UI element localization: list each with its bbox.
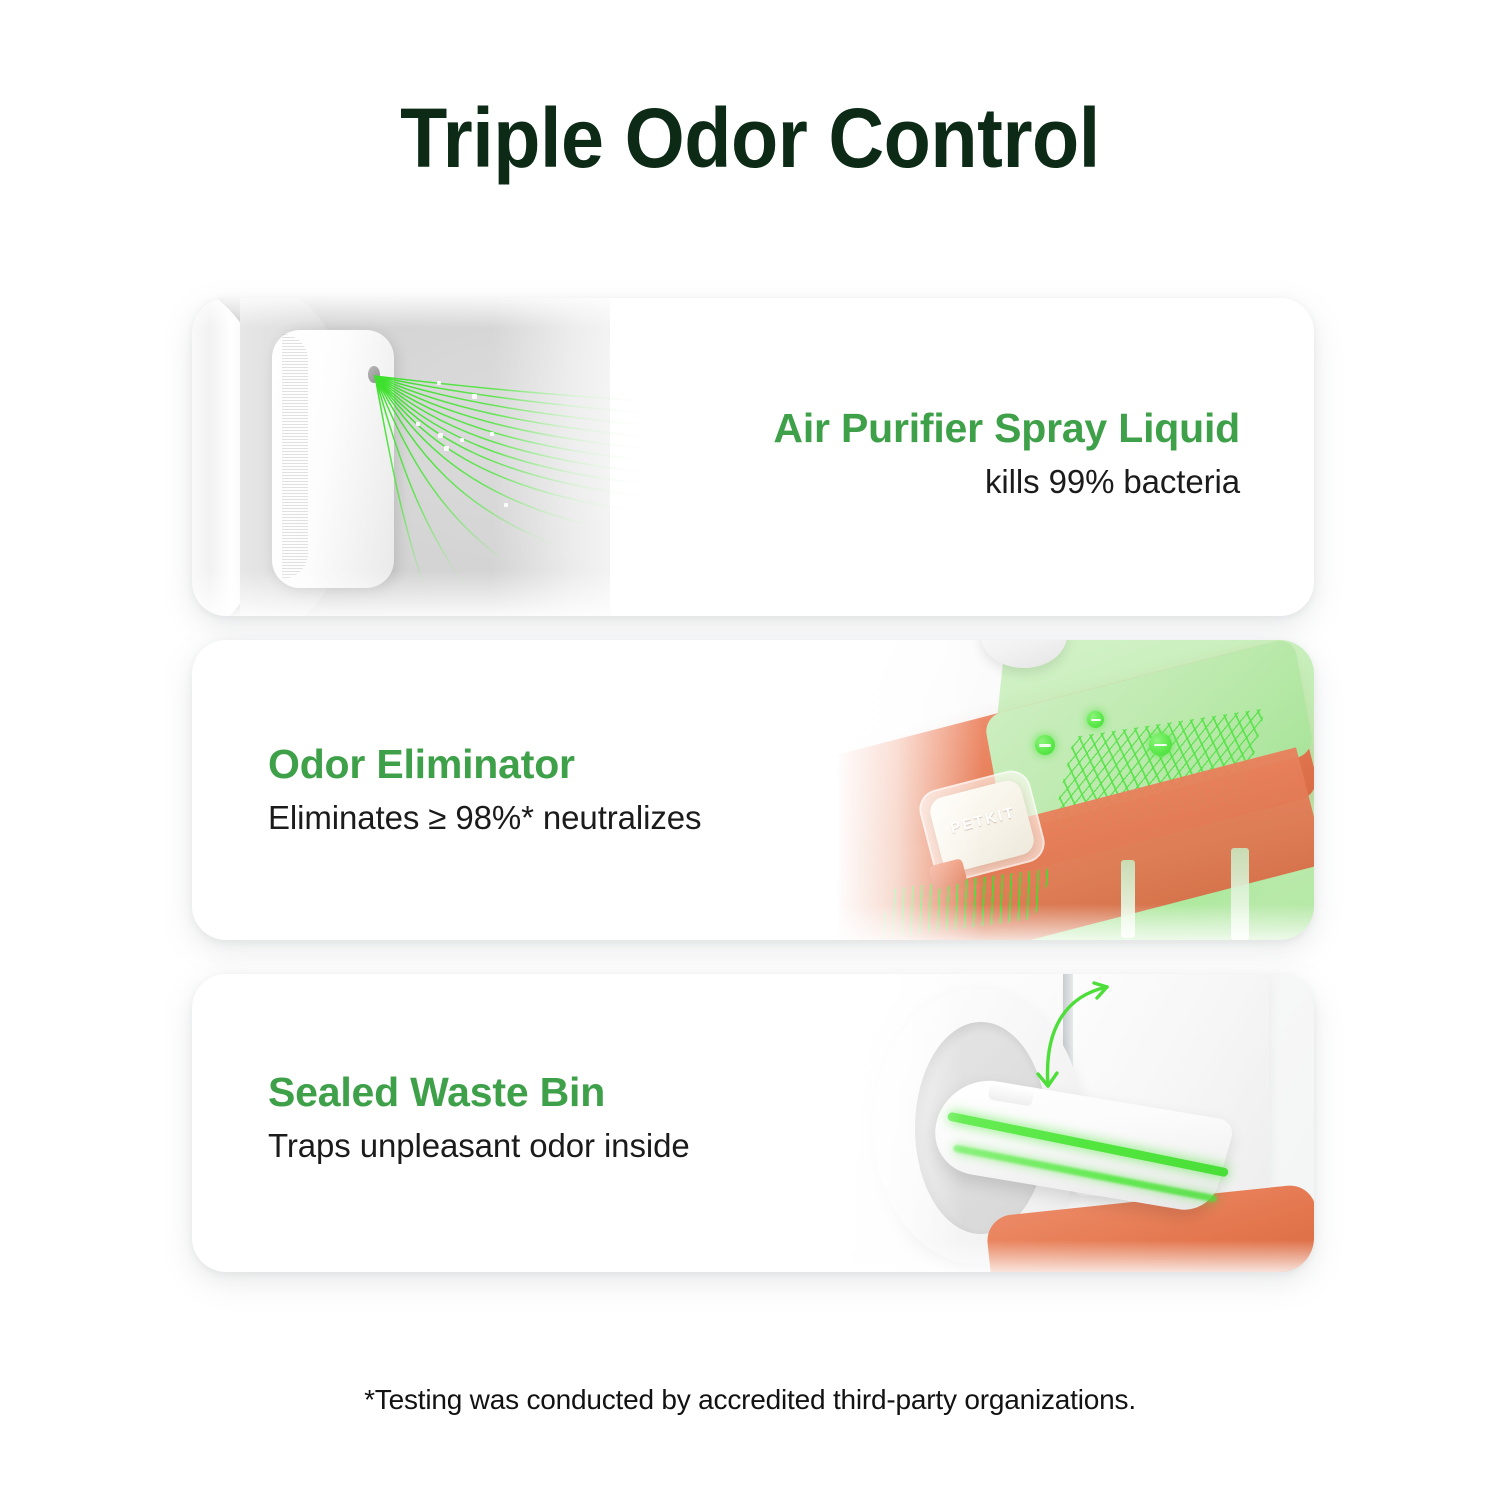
card-3-illustration bbox=[839, 974, 1314, 1272]
footnote-disclaimer: *Testing was conducted by accredited thi… bbox=[0, 1384, 1500, 1416]
card-3-text-block: Sealed Waste Bin Traps unpleasant odor i… bbox=[268, 1070, 690, 1166]
negative-ion-icon bbox=[1035, 735, 1055, 755]
card-3-subline: Traps unpleasant odor inside bbox=[268, 1126, 690, 1166]
card-1-text-block: Air Purifier Spray Liquid kills 99% bact… bbox=[773, 406, 1240, 502]
card-1-bottom-fade bbox=[192, 570, 702, 616]
card-2-subline: Eliminates ≥ 98%* neutralizes bbox=[268, 798, 701, 838]
card-3-headline: Sealed Waste Bin bbox=[268, 1070, 690, 1116]
card-2-left-fade bbox=[839, 640, 983, 940]
page-title: Triple Odor Control bbox=[60, 96, 1440, 180]
card-1-subline: kills 99% bacteria bbox=[773, 462, 1240, 502]
infographic-page: Triple Odor Control bbox=[0, 0, 1500, 1500]
feature-card-air-purifier: Air Purifier Spray Liquid kills 99% bact… bbox=[192, 298, 1314, 616]
feature-card-sealed-waste-bin: Sealed Waste Bin Traps unpleasant odor i… bbox=[192, 974, 1314, 1272]
card-1-illustration bbox=[192, 298, 692, 616]
card-3-bottom-fade bbox=[839, 1240, 1314, 1272]
card-2-text-block: Odor Eliminator Eliminates ≥ 98%* neutra… bbox=[268, 742, 701, 838]
feature-card-odor-eliminator: Odor Eliminator Eliminates ≥ 98%* neutra… bbox=[192, 640, 1314, 940]
negative-ion-icon bbox=[1149, 733, 1172, 756]
card-3-left-fade bbox=[839, 974, 963, 1272]
card-2-bottom-fade bbox=[839, 904, 1314, 940]
card-1-right-fade bbox=[492, 298, 722, 616]
card-2-illustration: PETKIT bbox=[839, 640, 1314, 940]
card-1-headline: Air Purifier Spray Liquid bbox=[773, 406, 1240, 452]
negative-ion-icon bbox=[1087, 711, 1104, 728]
card-2-headline: Odor Eliminator bbox=[268, 742, 701, 788]
